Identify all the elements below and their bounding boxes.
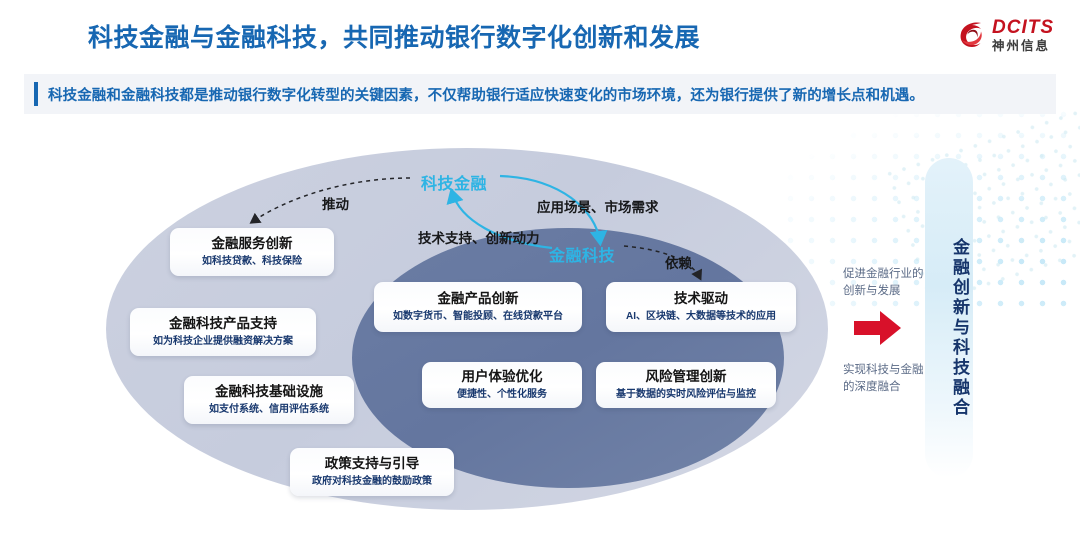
- edge-label-tuidong: 推动: [322, 193, 349, 213]
- card-title: 金融科技基础设施: [215, 384, 323, 401]
- subtitle-band: 科技金融和金融科技都是推动银行数字化转型的关键因素，不仅帮助银行适应快速变化的市…: [24, 74, 1056, 114]
- card-title: 金融科技产品支持: [169, 316, 277, 333]
- card-title: 用户体验优化: [462, 369, 543, 386]
- right-note-bottom: 实现科技与金融的深度融合: [843, 362, 929, 395]
- diagram-canvas: 科技金融 金融科技 推动 应用场景、市场需求 技术支持、创新动力 依赖 金融服务…: [0, 118, 1080, 540]
- card-title: 技术驱动: [674, 291, 728, 308]
- card-subtitle: 便捷性、个性化服务: [457, 388, 547, 401]
- edge-label-scene: 应用场景、市场需求: [537, 196, 659, 216]
- node-label-jinrong-keji: 金融科技: [549, 242, 615, 266]
- card-subtitle: 如数字货币、智能投顾、在线贷款平台: [393, 310, 563, 323]
- diagram-card[interactable]: 金融产品创新 如数字货币、智能投顾、在线贷款平台: [374, 282, 582, 332]
- card-subtitle: 政府对科技金融的鼓励政策: [312, 475, 432, 488]
- card-subtitle: 如为科技企业提供融资解决方案: [153, 335, 293, 348]
- diagram-card[interactable]: 金融科技产品支持 如为科技企业提供融资解决方案: [130, 308, 316, 356]
- card-subtitle: 如科技贷款、科技保险: [202, 255, 302, 268]
- dcits-swirl-icon: [958, 20, 985, 50]
- card-title: 风险管理创新: [646, 369, 727, 386]
- brand-logo: DCITS 神州信息: [958, 18, 1054, 53]
- card-subtitle: 如支付系统、信用评估系统: [209, 403, 329, 416]
- diagram-card[interactable]: 风险管理创新 基于数据的实时风险评估与监控: [596, 362, 776, 408]
- right-vertical-title: 金融创新与科技融合: [930, 238, 968, 418]
- node-label-keji-jinrong: 科技金融: [421, 170, 487, 194]
- right-note-top: 促进金融行业的创新与发展: [843, 266, 929, 299]
- brand-name: DCITS: [992, 18, 1054, 37]
- edge-label-tech: 技术支持、创新动力: [418, 227, 540, 247]
- brand-text: DCITS 神州信息: [992, 18, 1054, 53]
- subtitle-accent-bar: [34, 82, 38, 106]
- card-subtitle: 基于数据的实时风险评估与监控: [616, 388, 756, 401]
- brand-subname: 神州信息: [992, 40, 1054, 53]
- subtitle-text: 科技金融和金融科技都是推动银行数字化转型的关键因素，不仅帮助银行适应快速变化的市…: [48, 84, 924, 105]
- diagram-card[interactable]: 金融服务创新 如科技贷款、科技保险: [170, 228, 334, 276]
- diagram-card[interactable]: 技术驱动 AI、区块链、大数据等技术的应用: [606, 282, 796, 332]
- edge-label-yilai: 依赖: [665, 252, 692, 272]
- diagram-card[interactable]: 用户体验优化 便捷性、个性化服务: [422, 362, 582, 408]
- diagram-card[interactable]: 政策支持与引导 政府对科技金融的鼓励政策: [290, 448, 454, 496]
- card-subtitle: AI、区块链、大数据等技术的应用: [626, 310, 776, 323]
- card-title: 金融服务创新: [212, 236, 293, 253]
- diagram-card[interactable]: 金融科技基础设施 如支付系统、信用评估系统: [184, 376, 354, 424]
- red-arrow-icon: [854, 310, 902, 346]
- page-title: 科技金融与金融科技，共同推动银行数字化创新和发展: [88, 18, 700, 54]
- card-title: 政策支持与引导: [325, 456, 420, 473]
- card-title: 金融产品创新: [438, 291, 519, 308]
